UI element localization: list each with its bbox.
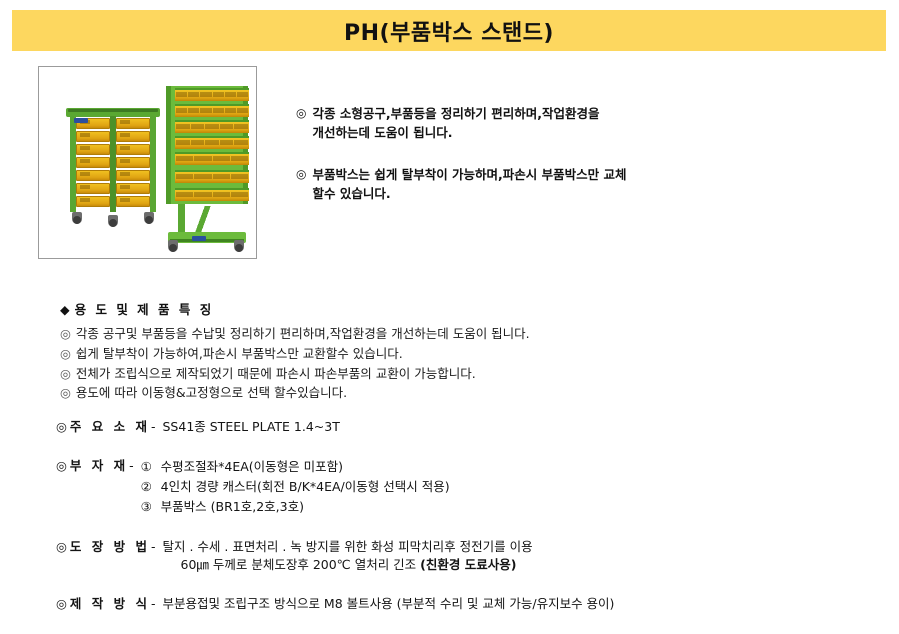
parts-bin <box>76 196 110 207</box>
parts-bin <box>116 144 150 155</box>
submaterial-item: ③ 부품박스 (BR1호,2호,3호) <box>141 497 846 517</box>
product-image <box>42 70 253 255</box>
stand-louver-panel <box>166 86 248 204</box>
page-title: PH(부품박스 스탠드) <box>344 15 554 47</box>
double-circle-bullet-icon: ◎ <box>56 457 67 476</box>
caster-wheel <box>234 240 244 252</box>
spec-dash: - <box>151 418 156 437</box>
parts-bin <box>213 192 230 197</box>
bin-shelf-row <box>175 120 249 133</box>
parts-bin <box>225 92 236 97</box>
brand-tag <box>74 118 88 123</box>
parts-bin <box>188 108 199 113</box>
parts-bin <box>176 92 187 97</box>
cart-bin-column-left <box>76 118 110 207</box>
features-heading: ◆용 도 및 제 품 특 징 <box>60 299 760 318</box>
bin-shelf-row <box>175 170 249 183</box>
parts-bin <box>176 192 193 197</box>
brand-tag <box>192 236 206 241</box>
cart-post-right <box>150 116 156 212</box>
spec-label: 부 자 재 <box>70 457 128 476</box>
parts-bin <box>76 144 110 155</box>
parts-bin <box>213 92 224 97</box>
parts-bin <box>191 124 205 129</box>
caster-wheel <box>168 240 178 252</box>
submaterial-item: ① 수평조절좌*4EA(이동형은 미포함) <box>141 457 846 477</box>
parts-bin <box>220 140 234 145</box>
double-circle-bullet-icon: ◎ <box>296 104 306 143</box>
feature-item-text: 쉽게 탈부착이 가능하여,파손시 부품박스만 교환할수 있습니다. <box>76 345 403 363</box>
double-circle-bullet-icon: ◎ <box>60 325 71 343</box>
parts-bin <box>176 108 187 113</box>
cart-bin-column-right <box>116 118 150 207</box>
parts-bin <box>231 192 248 197</box>
bin-shelf-row <box>175 152 249 165</box>
spec-value: 탈지 . 수세 . 표면처리 . 녹 방지를 위한 화성 피막치리후 정전기를 … <box>163 538 847 576</box>
spec-row-material: ◎ 주 요 소 재 - SS41종 STEEL PLATE 1.4~3T <box>56 418 846 437</box>
parts-bin <box>237 108 248 113</box>
spec-label: 도 장 방 법 <box>70 538 150 557</box>
intro-item-text: 부품박스는 쉽게 탈부착이 가능하며,파손시 부품박스만 교체 할수 있습니다. <box>312 165 626 204</box>
parts-bin <box>213 174 230 179</box>
parts-bin <box>176 174 193 179</box>
intro-item: ◎ 각종 소형공구,부품등을 정리하기 편리하며,작업환경을 개선하는데 도움이… <box>296 104 696 143</box>
parts-bin <box>116 196 150 207</box>
parts-bin <box>116 170 150 181</box>
parts-bin <box>116 118 150 129</box>
spec-value: ① 수평조절좌*4EA(이동형은 미포함) ② 4인치 경량 캐스터(회전 B/… <box>141 457 846 518</box>
spec-label: 제 작 방 식 <box>70 595 150 614</box>
submaterial-item-text: 4인치 경량 캐스터(회전 B/K*4EA/이동형 선택시 적용) <box>161 477 450 497</box>
parts-bin <box>234 124 248 129</box>
parts-bin <box>234 140 248 145</box>
spec-value: SS41종 STEEL PLATE 1.4~3T <box>163 418 847 437</box>
parts-bin <box>191 140 205 145</box>
parts-bin <box>200 108 211 113</box>
parts-bin <box>176 124 190 129</box>
caster-wheel <box>108 215 118 227</box>
features-heading-label: 용 도 및 제 품 특 징 <box>75 302 214 317</box>
parts-bin <box>76 183 110 194</box>
spec-row-submaterial: ◎ 부 자 재 - ① 수평조절좌*4EA(이동형은 미포함) ② 4인치 경량… <box>56 457 846 518</box>
parts-bin <box>116 183 150 194</box>
parts-bin <box>188 92 199 97</box>
parts-bin <box>213 108 224 113</box>
stand-brace <box>182 206 222 232</box>
intro-item: ◎ 부품박스는 쉽게 탈부착이 가능하며,파손시 부품박스만 교체 할수 있습니… <box>296 165 696 204</box>
feature-item-text: 전체가 조립식으로 제작되었기 때문에 파손시 파손부품의 교환이 가능합니다. <box>76 365 476 383</box>
parts-bin <box>176 156 193 161</box>
parts-bin <box>231 156 248 161</box>
bin-shelf-row <box>175 188 249 201</box>
feature-item: ◎ 용도에 따라 이동형&고정형으로 선택 할수있습니다. <box>60 384 760 402</box>
double-circle-bullet-icon: ◎ <box>56 418 67 437</box>
spec-value: 부분용접및 조립구조 방식으로 M8 볼트사용 (부분적 수리 및 교체 가능/… <box>163 595 847 614</box>
parts-bin <box>220 124 234 129</box>
coating-line-1: 탈지 . 수세 . 표면처리 . 녹 방지를 위한 화성 피막치리후 정전기를 … <box>163 538 847 557</box>
spec-dash: - <box>151 538 156 557</box>
parts-bin <box>225 108 236 113</box>
specifications-section: ◎ 주 요 소 재 - SS41종 STEEL PLATE 1.4~3T ◎ 부… <box>56 418 846 634</box>
circled-number-icon: ② <box>141 477 161 497</box>
parts-bin <box>176 140 190 145</box>
circled-number-icon: ① <box>141 457 161 477</box>
product-right-stand-illustration <box>166 86 248 246</box>
coating-line-2: 60㎛ 두께로 분체도장후 200℃ 열처리 긴조 (친환경 도료사용) <box>163 556 847 575</box>
parts-bin <box>205 124 219 129</box>
parts-bin <box>194 156 211 161</box>
feature-item: ◎ 쉽게 탈부착이 가능하여,파손시 부품박스만 교환할수 있습니다. <box>60 345 760 363</box>
bin-shelf-row <box>175 104 249 117</box>
parts-bin <box>194 192 211 197</box>
double-circle-bullet-icon: ◎ <box>56 595 67 614</box>
parts-bin <box>231 174 248 179</box>
double-circle-bullet-icon: ◎ <box>56 538 67 557</box>
parts-bin <box>116 131 150 142</box>
double-circle-bullet-icon: ◎ <box>60 365 71 383</box>
double-circle-bullet-icon: ◎ <box>60 384 71 402</box>
bin-shelf-row <box>175 88 249 101</box>
submaterial-item-text: 수평조절좌*4EA(이동형은 미포함) <box>161 457 343 477</box>
page-header-banner: PH(부품박스 스탠드) <box>12 10 886 51</box>
feature-item-text: 용도에 따라 이동형&고정형으로 선택 할수있습니다. <box>76 384 347 402</box>
parts-bin <box>237 92 248 97</box>
coating-line-2-text: 60㎛ 두께로 분체도장후 200℃ 열처리 긴조 <box>181 557 421 572</box>
parts-bin <box>76 157 110 168</box>
spec-label: 주 요 소 재 <box>70 418 150 437</box>
double-circle-bullet-icon: ◎ <box>296 165 306 204</box>
diamond-bullet-icon: ◆ <box>60 302 70 317</box>
spec-row-manufacture: ◎ 제 작 방 식 - 부분용접및 조립구조 방식으로 M8 볼트사용 (부분적… <box>56 595 846 614</box>
caster-wheel <box>72 212 82 224</box>
features-section: ◆용 도 및 제 품 특 징 ◎ 각종 공구및 부품등을 수납및 정리하기 편리… <box>60 299 760 404</box>
product-image-frame <box>38 66 257 259</box>
caster-wheel <box>144 212 154 224</box>
spec-dash: - <box>129 457 134 476</box>
feature-item: ◎ 전체가 조립식으로 제작되었기 때문에 파손시 파손부품의 교환이 가능합니… <box>60 365 760 383</box>
intro-description-list: ◎ 각종 소형공구,부품등을 정리하기 편리하며,작업환경을 개선하는데 도움이… <box>296 104 696 226</box>
circled-number-icon: ③ <box>141 497 161 517</box>
feature-item: ◎ 각종 공구및 부품등을 수납및 정리하기 편리하며,작업환경을 개선하는데 … <box>60 325 760 343</box>
parts-bin <box>76 131 110 142</box>
submaterial-item: ② 4인치 경량 캐스터(회전 B/K*4EA/이동형 선택시 적용) <box>141 477 846 497</box>
parts-bin <box>205 140 219 145</box>
spec-dash: - <box>151 595 156 614</box>
parts-bin <box>116 157 150 168</box>
bin-shelf-row <box>175 136 249 149</box>
spec-row-coating: ◎ 도 장 방 법 - 탈지 . 수세 . 표면처리 . 녹 방지를 위한 화성… <box>56 538 846 576</box>
parts-bin <box>200 92 211 97</box>
double-circle-bullet-icon: ◎ <box>60 345 71 363</box>
parts-bin <box>213 156 230 161</box>
parts-bin <box>76 170 110 181</box>
product-left-cart-illustration <box>70 108 156 228</box>
intro-item-text: 각종 소형공구,부품등을 정리하기 편리하며,작업환경을 개선하는데 도움이 됩… <box>312 104 599 143</box>
feature-item-text: 각종 공구및 부품등을 수납및 정리하기 편리하며,작업환경을 개선하는데 도움… <box>76 325 530 343</box>
submaterial-item-text: 부품박스 (BR1호,2호,3호) <box>161 497 304 517</box>
parts-bin <box>194 174 211 179</box>
coating-eco-note: (친환경 도료사용) <box>420 557 516 572</box>
